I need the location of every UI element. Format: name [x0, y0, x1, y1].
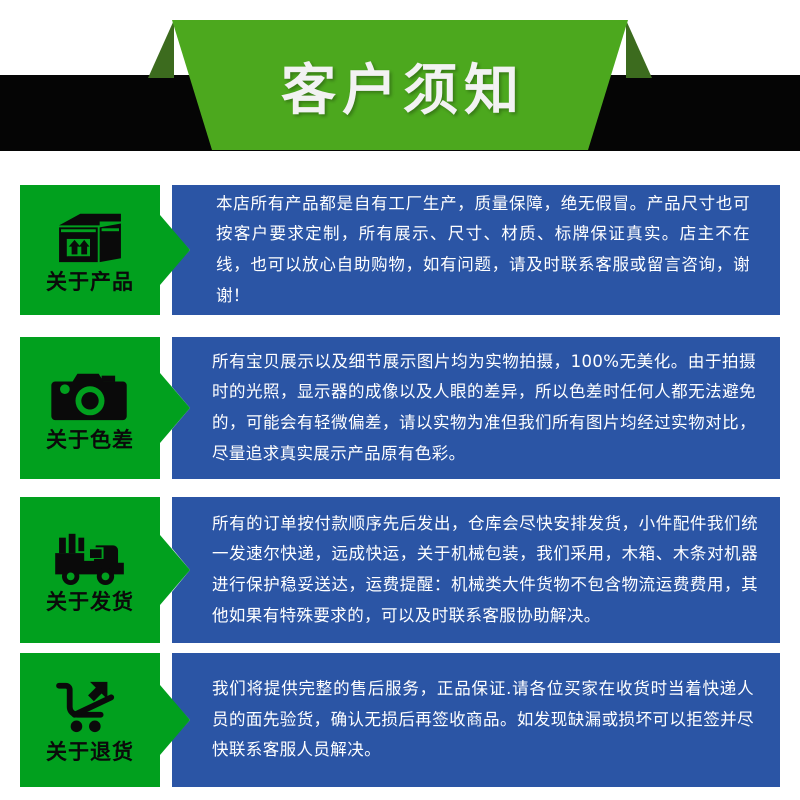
icon-label-shipping: 关于发货: [46, 592, 134, 613]
panel-shipping: 所有的订单按付款顺序先后发出，仓库会尽快安排发货，小件配件我们统一发速尔快递，远…: [172, 497, 780, 643]
panel-text-product: 本店所有产品都是自有工厂生产，质量保障，绝无假冒。产品尺寸也可按客户要求定制，所…: [172, 189, 780, 311]
section-row-color: 关于色差 所有宝贝展示以及细节展示图片均为实物拍摄，100%无美化。由于拍摄时的…: [0, 337, 800, 479]
camera-icon: [51, 366, 129, 424]
arrow-product: [160, 215, 190, 285]
icon-box-shipping[interactable]: 关于发货: [20, 497, 160, 643]
header-banner: 客户须知: [0, 0, 800, 160]
section-row-shipping: 关于发货 所有的订单按付款顺序先后发出，仓库会尽快安排发货，小件配件我们统一发速…: [0, 497, 800, 643]
package-box-icon: [51, 208, 129, 266]
icon-label-returns: 关于退货: [46, 742, 134, 763]
icon-label-product: 关于产品: [46, 272, 134, 293]
panel-returns: 我们将提供完整的售后服务，正品保证.请各位买家在收货时当着快递人员的面先验货，确…: [172, 653, 780, 787]
page-title: 客户须知: [0, 20, 800, 150]
section-row-returns: 关于退货 我们将提供完整的售后服务，正品保证.请各位买家在收货时当着快递人员的面…: [0, 653, 800, 787]
arrow-color: [160, 373, 190, 443]
arrow-shipping: [160, 535, 190, 605]
panel-text-returns: 我们将提供完整的售后服务，正品保证.请各位买家在收货时当着快递人员的面先验货，确…: [172, 674, 780, 766]
icon-box-product[interactable]: 关于产品: [20, 185, 160, 315]
icon-label-color: 关于色差: [46, 430, 134, 451]
return-cart-icon: [51, 678, 129, 736]
panel-color: 所有宝贝展示以及细节展示图片均为实物拍摄，100%无美化。由于拍摄时的光照，显示…: [172, 337, 780, 479]
icon-box-returns[interactable]: 关于退货: [20, 653, 160, 787]
arrow-returns: [160, 685, 190, 755]
panel-text-color: 所有宝贝展示以及细节展示图片均为实物拍摄，100%无美化。由于拍摄时的光照，显示…: [172, 347, 780, 469]
panel-text-shipping: 所有的订单按付款顺序先后发出，仓库会尽快安排发货，小件配件我们统一发速尔快递，远…: [172, 509, 780, 631]
section-row-product: 关于产品 本店所有产品都是自有工厂生产，质量保障，绝无假冒。产品尺寸也可按客户要…: [0, 185, 800, 315]
panel-product: 本店所有产品都是自有工厂生产，质量保障，绝无假冒。产品尺寸也可按客户要求定制，所…: [172, 185, 780, 315]
icon-box-color[interactable]: 关于色差: [20, 337, 160, 479]
forklift-truck-icon: [51, 528, 129, 586]
